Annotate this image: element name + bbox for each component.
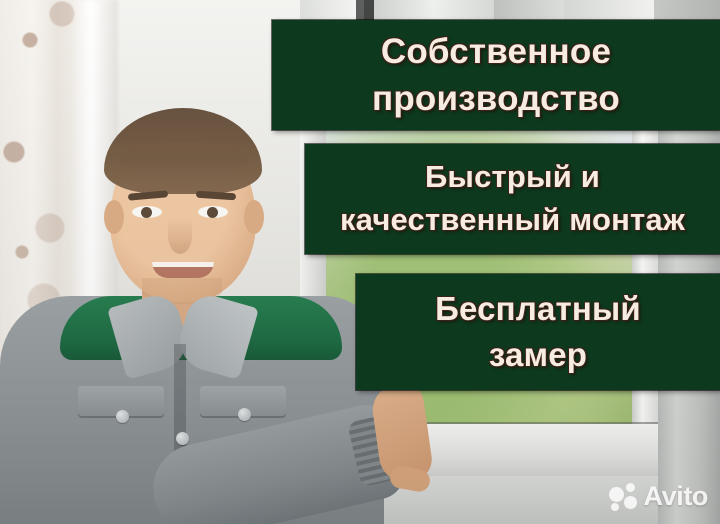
eye-left [132, 206, 162, 218]
eye-right [198, 206, 228, 218]
window-top-frame-bars [300, 0, 720, 22]
banner-fast-quality-installation: Быстрый и качественный монтаж [305, 144, 720, 254]
banner-3-line-1: Бесплатный [435, 292, 641, 327]
banner-3-line-2: замер [489, 338, 587, 373]
ear-left [104, 200, 124, 234]
ear-right [244, 200, 264, 234]
banner-2-line-2: качественный монтаж [340, 204, 685, 237]
banner-own-production: Собственное производство [272, 20, 720, 130]
banner-2-line-1: Быстрый и [425, 161, 600, 194]
smiling-mouth [152, 262, 214, 278]
hair-fringe [120, 142, 248, 174]
banner-free-measurement: Бесплатный замер [356, 274, 720, 390]
advertisement-image: Собственное производство Быстрый и качес… [0, 0, 720, 524]
pocket-button-right [238, 408, 251, 421]
avito-watermark: Avito [609, 481, 709, 512]
banner-1-line-2: производство [372, 80, 620, 117]
nose [168, 218, 192, 254]
avito-wordmark: Avito [644, 481, 709, 512]
banner-1-line-1: Собственное [381, 33, 611, 70]
pocket-button-left [116, 410, 129, 423]
avito-circles-icon [609, 483, 637, 511]
jacket-button [176, 432, 189, 445]
